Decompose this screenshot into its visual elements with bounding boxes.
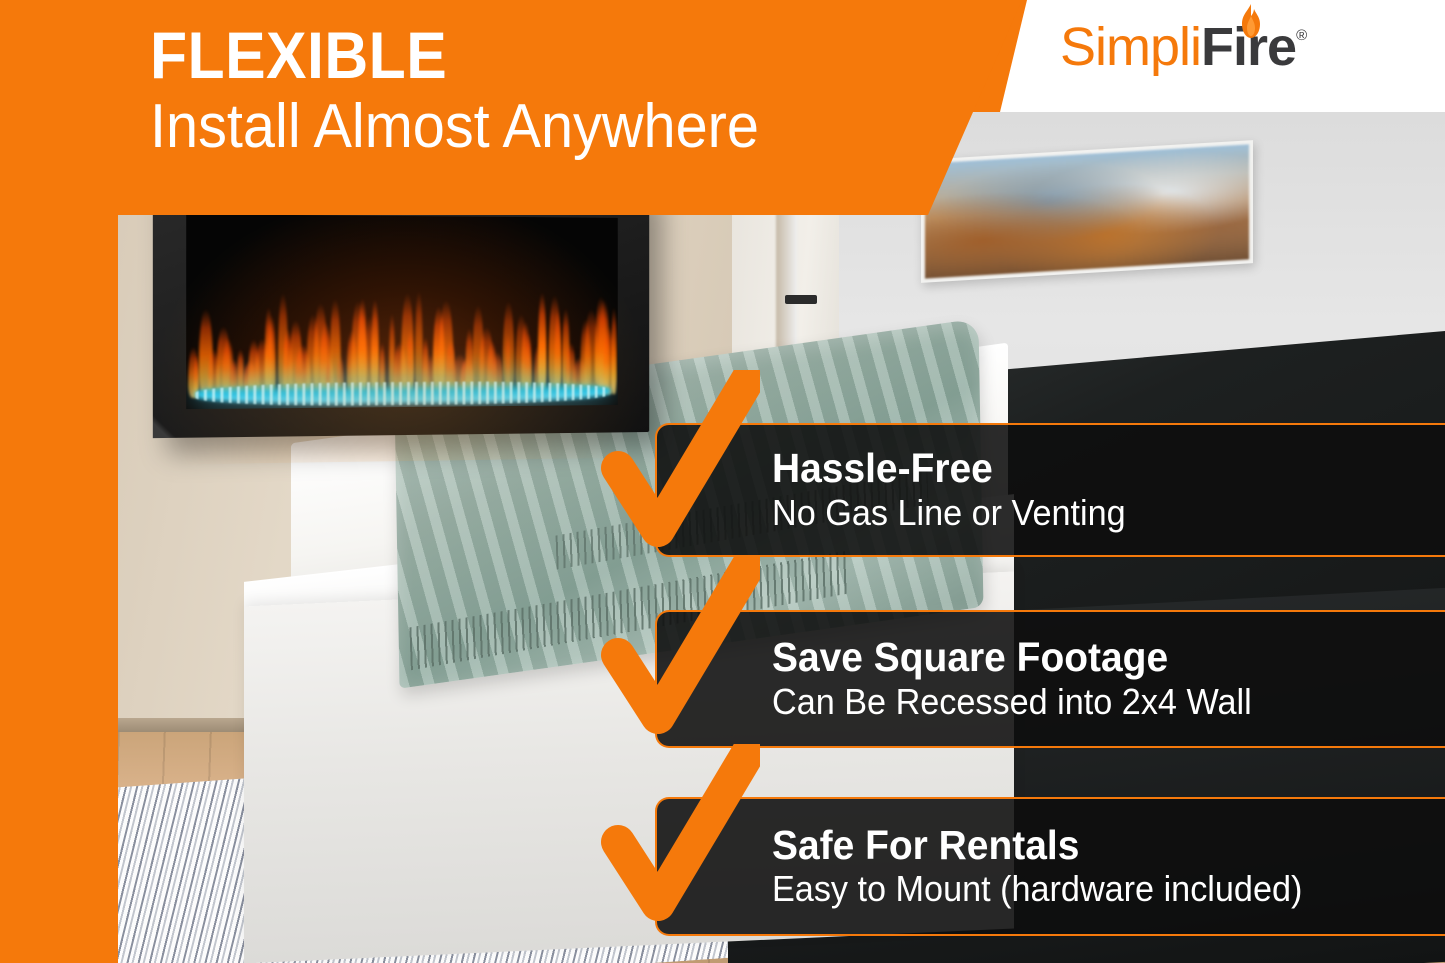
feature-title: Hassle-Free (772, 447, 1421, 490)
ember-crystals (195, 381, 609, 407)
feature-card-safe-for-rentals[interactable]: Safe For Rentals Easy to Mount (hardware… (655, 797, 1445, 936)
simplifire-logo[interactable]: Simpli Fire ® (1060, 20, 1307, 74)
logo-text-simpli: Simpli (1060, 20, 1201, 74)
flame-icon (1238, 4, 1264, 44)
headline-title: Install Almost Anywhere (150, 94, 894, 161)
artwork-canvas (925, 145, 1249, 280)
headline-kicker: FLEXIBLE (150, 22, 886, 88)
feature-title: Safe For Rentals (772, 824, 1421, 867)
feature-subtitle: Can Be Recessed into 2x4 Wall (772, 682, 1421, 722)
marketing-infographic: FLEXIBLE Install Almost Anywhere Simpli … (0, 0, 1445, 963)
logo-registered-mark: ® (1296, 28, 1307, 43)
linear-electric-fireplace (153, 177, 649, 439)
feature-title: Save Square Footage (772, 636, 1421, 679)
feature-subtitle: No Gas Line or Venting (772, 493, 1421, 533)
fireplace-glass (186, 214, 617, 410)
headline-block: FLEXIBLE Install Almost Anywhere (150, 22, 950, 161)
flame-animation (186, 276, 617, 397)
door-handle-icon (785, 295, 817, 304)
feature-subtitle: Easy to Mount (hardware included) (772, 869, 1421, 909)
feature-card-hassle-free[interactable]: Hassle-Free No Gas Line or Venting (655, 423, 1445, 557)
feature-card-save-square-footage[interactable]: Save Square Footage Can Be Recessed into… (655, 610, 1445, 748)
framed-artwork (921, 140, 1253, 283)
